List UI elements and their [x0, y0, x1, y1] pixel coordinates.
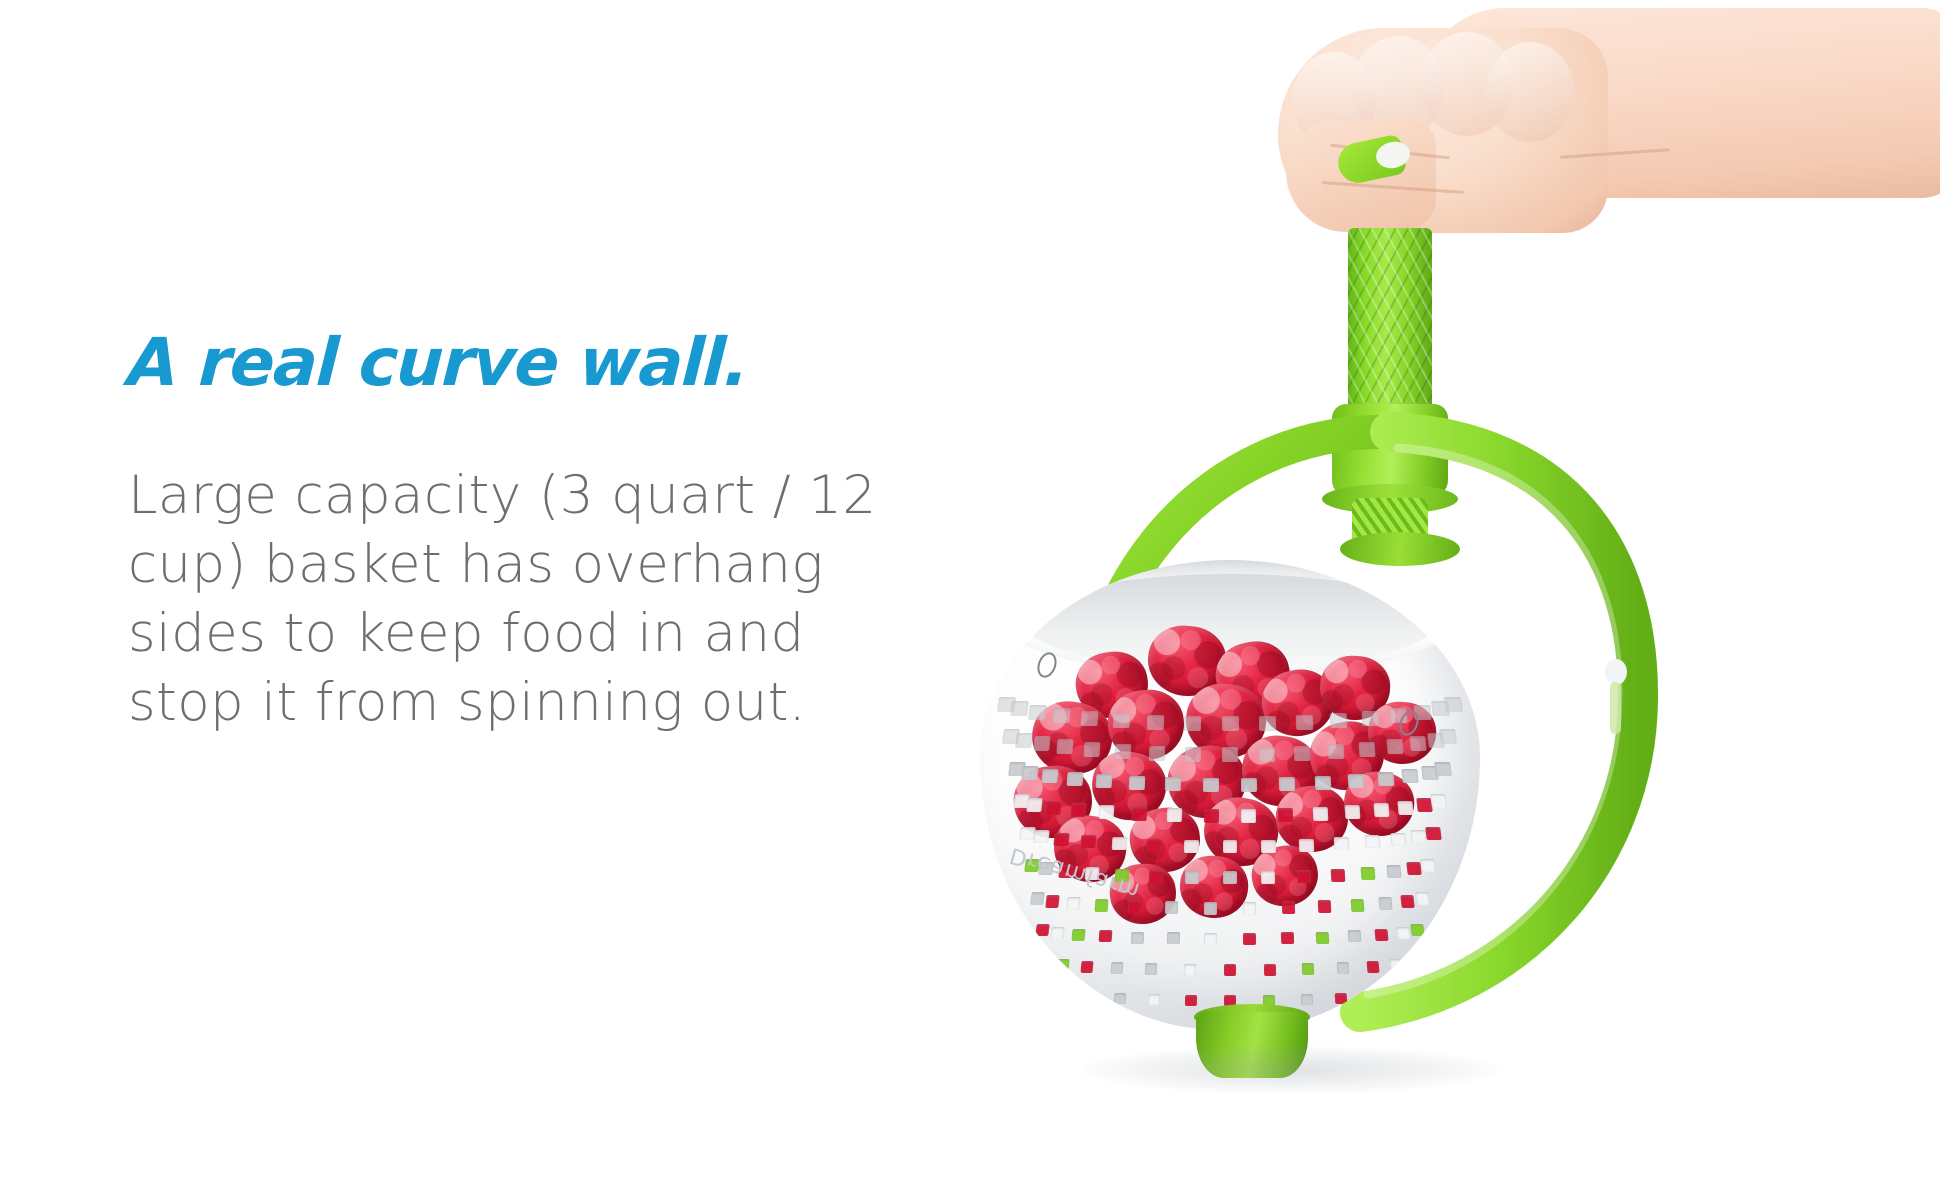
band-slot — [1610, 682, 1621, 734]
ground-shadow — [1080, 1046, 1500, 1094]
basket: Dreamfarm — [980, 560, 1480, 1060]
knuckle — [1486, 42, 1574, 142]
page-title: A real curve wall. — [126, 330, 889, 396]
marketing-slide: A real curve wall. Large capacity (3 qua… — [0, 0, 1940, 1200]
raspberries — [980, 560, 1480, 1030]
product-photo: Dreamfarm — [1000, 0, 1940, 1200]
hand-illustration — [1000, 0, 1940, 300]
band-pin — [1605, 659, 1627, 685]
body-copy: Large capacity (3 quart / 12 cup) basket… — [128, 462, 888, 738]
basket-bowl: Dreamfarm — [980, 560, 1480, 1030]
raspberry — [1274, 784, 1350, 855]
text-panel: A real curve wall. Large capacity (3 qua… — [128, 330, 888, 738]
